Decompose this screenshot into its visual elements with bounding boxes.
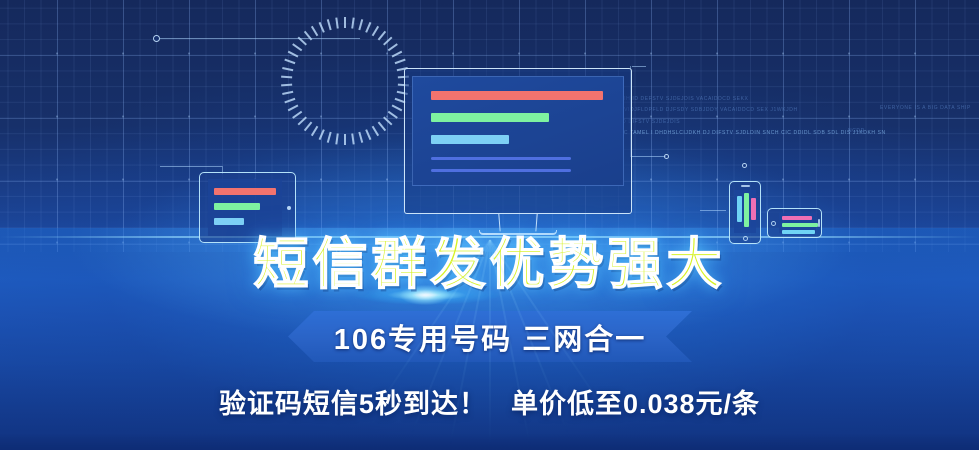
radial-dial-ticks-icon — [281, 17, 409, 145]
bar-blue — [214, 218, 244, 225]
tablet-home-button-icon — [287, 206, 291, 210]
dial-tick — [284, 98, 295, 104]
dial-tick — [292, 43, 302, 51]
dial-tick — [284, 59, 295, 65]
dial-tick — [281, 84, 292, 87]
phone-landscape-screen — [779, 213, 816, 233]
dial-tick — [311, 126, 318, 136]
connector-line — [700, 210, 726, 211]
dial-tick — [304, 121, 312, 131]
dial-tick — [392, 104, 403, 111]
dial-tick — [378, 31, 386, 41]
dial-tick — [383, 116, 392, 125]
dial-tick — [358, 19, 363, 30]
subtitle-left: 验证码短信5秒到达！ — [219, 389, 487, 419]
dial-tick — [335, 133, 338, 144]
dial-tick — [304, 31, 312, 41]
dial-tick — [327, 132, 332, 143]
bar-blue — [431, 135, 509, 144]
dial-tick — [319, 129, 325, 140]
hbar-pink — [782, 216, 812, 220]
dial-tick — [388, 43, 398, 51]
vbar-pink — [751, 198, 756, 220]
line-1 — [431, 157, 571, 160]
hbar-green — [782, 223, 818, 227]
decor-microtext: SDIH ID DEFSTV SJDEJDIS VACAIDDCD SEKX — [616, 96, 748, 102]
dial-tick — [392, 51, 403, 58]
vbar-green — [744, 193, 749, 227]
bar-green — [431, 113, 549, 122]
connector-line — [160, 166, 222, 167]
hbar-blue — [782, 230, 815, 234]
dial-tick — [319, 22, 325, 33]
dial-tick — [281, 76, 292, 79]
connector-line — [632, 66, 646, 67]
dial-tick — [351, 133, 354, 144]
line-2 — [431, 169, 571, 172]
dial-tick — [358, 132, 363, 143]
node-circle-icon — [153, 35, 160, 42]
dial-tick — [335, 17, 338, 28]
dial-tick — [288, 51, 299, 58]
monitor-stand-neck — [498, 214, 537, 231]
sms-marketing-banner: SDIH ID DEFSTV SJDEJDIS VACAIDDCD SEKX I… — [0, 0, 979, 450]
vbar-blue — [737, 196, 742, 222]
subtitle-right: 单价低至0.038元/条 — [511, 389, 760, 419]
dial-tick — [378, 121, 386, 131]
dial-tick — [344, 17, 346, 28]
bar-red — [214, 188, 276, 195]
phone-speaker-icon — [818, 219, 820, 227]
dial-tick — [383, 37, 392, 46]
dial-tick — [298, 116, 307, 125]
phone-portrait-screen — [734, 190, 756, 233]
dial-tick — [372, 126, 379, 136]
desktop-monitor-illustration — [404, 68, 632, 214]
dial-tick — [372, 26, 379, 36]
tablet-screen — [208, 179, 282, 236]
phone-speaker-icon — [741, 185, 750, 187]
phone-portrait-illustration — [729, 181, 761, 244]
dial-tick — [344, 134, 346, 145]
bar-red — [431, 91, 603, 100]
dial-tick — [351, 17, 354, 28]
dial-tick — [365, 129, 371, 140]
dial-tick — [311, 26, 318, 36]
bar-green — [214, 203, 260, 210]
dial-tick — [282, 67, 293, 71]
dial-tick — [395, 59, 406, 65]
decor-microtext: EVERYONE IS A BIG DATA SHIP — [880, 105, 971, 111]
node-circle-icon — [742, 163, 747, 168]
dial-tick — [327, 19, 332, 30]
floor-light-beam — [489, 240, 491, 450]
dial-tick — [282, 91, 293, 95]
node-circle-icon — [664, 154, 669, 159]
decor-microtext: NCDD — [848, 128, 865, 134]
connector-line — [630, 156, 666, 157]
phone-home-button-icon — [771, 221, 776, 226]
phone-landscape-illustration — [767, 208, 822, 238]
dial-tick — [365, 22, 371, 33]
dial-tick — [388, 111, 398, 119]
monitor-screen — [412, 76, 624, 186]
decor-microtext: SXIC TAMEL I DHDHSLCIJDKH DJ DIFSTV SJDL… — [614, 130, 886, 136]
connector-line — [160, 38, 360, 39]
decor-microtext: I SNVIDJFLDPFLD DJFSDY SDBJDDY VACAIDDCD… — [612, 107, 798, 113]
dial-tick — [288, 104, 299, 111]
dial-tick — [292, 111, 302, 119]
